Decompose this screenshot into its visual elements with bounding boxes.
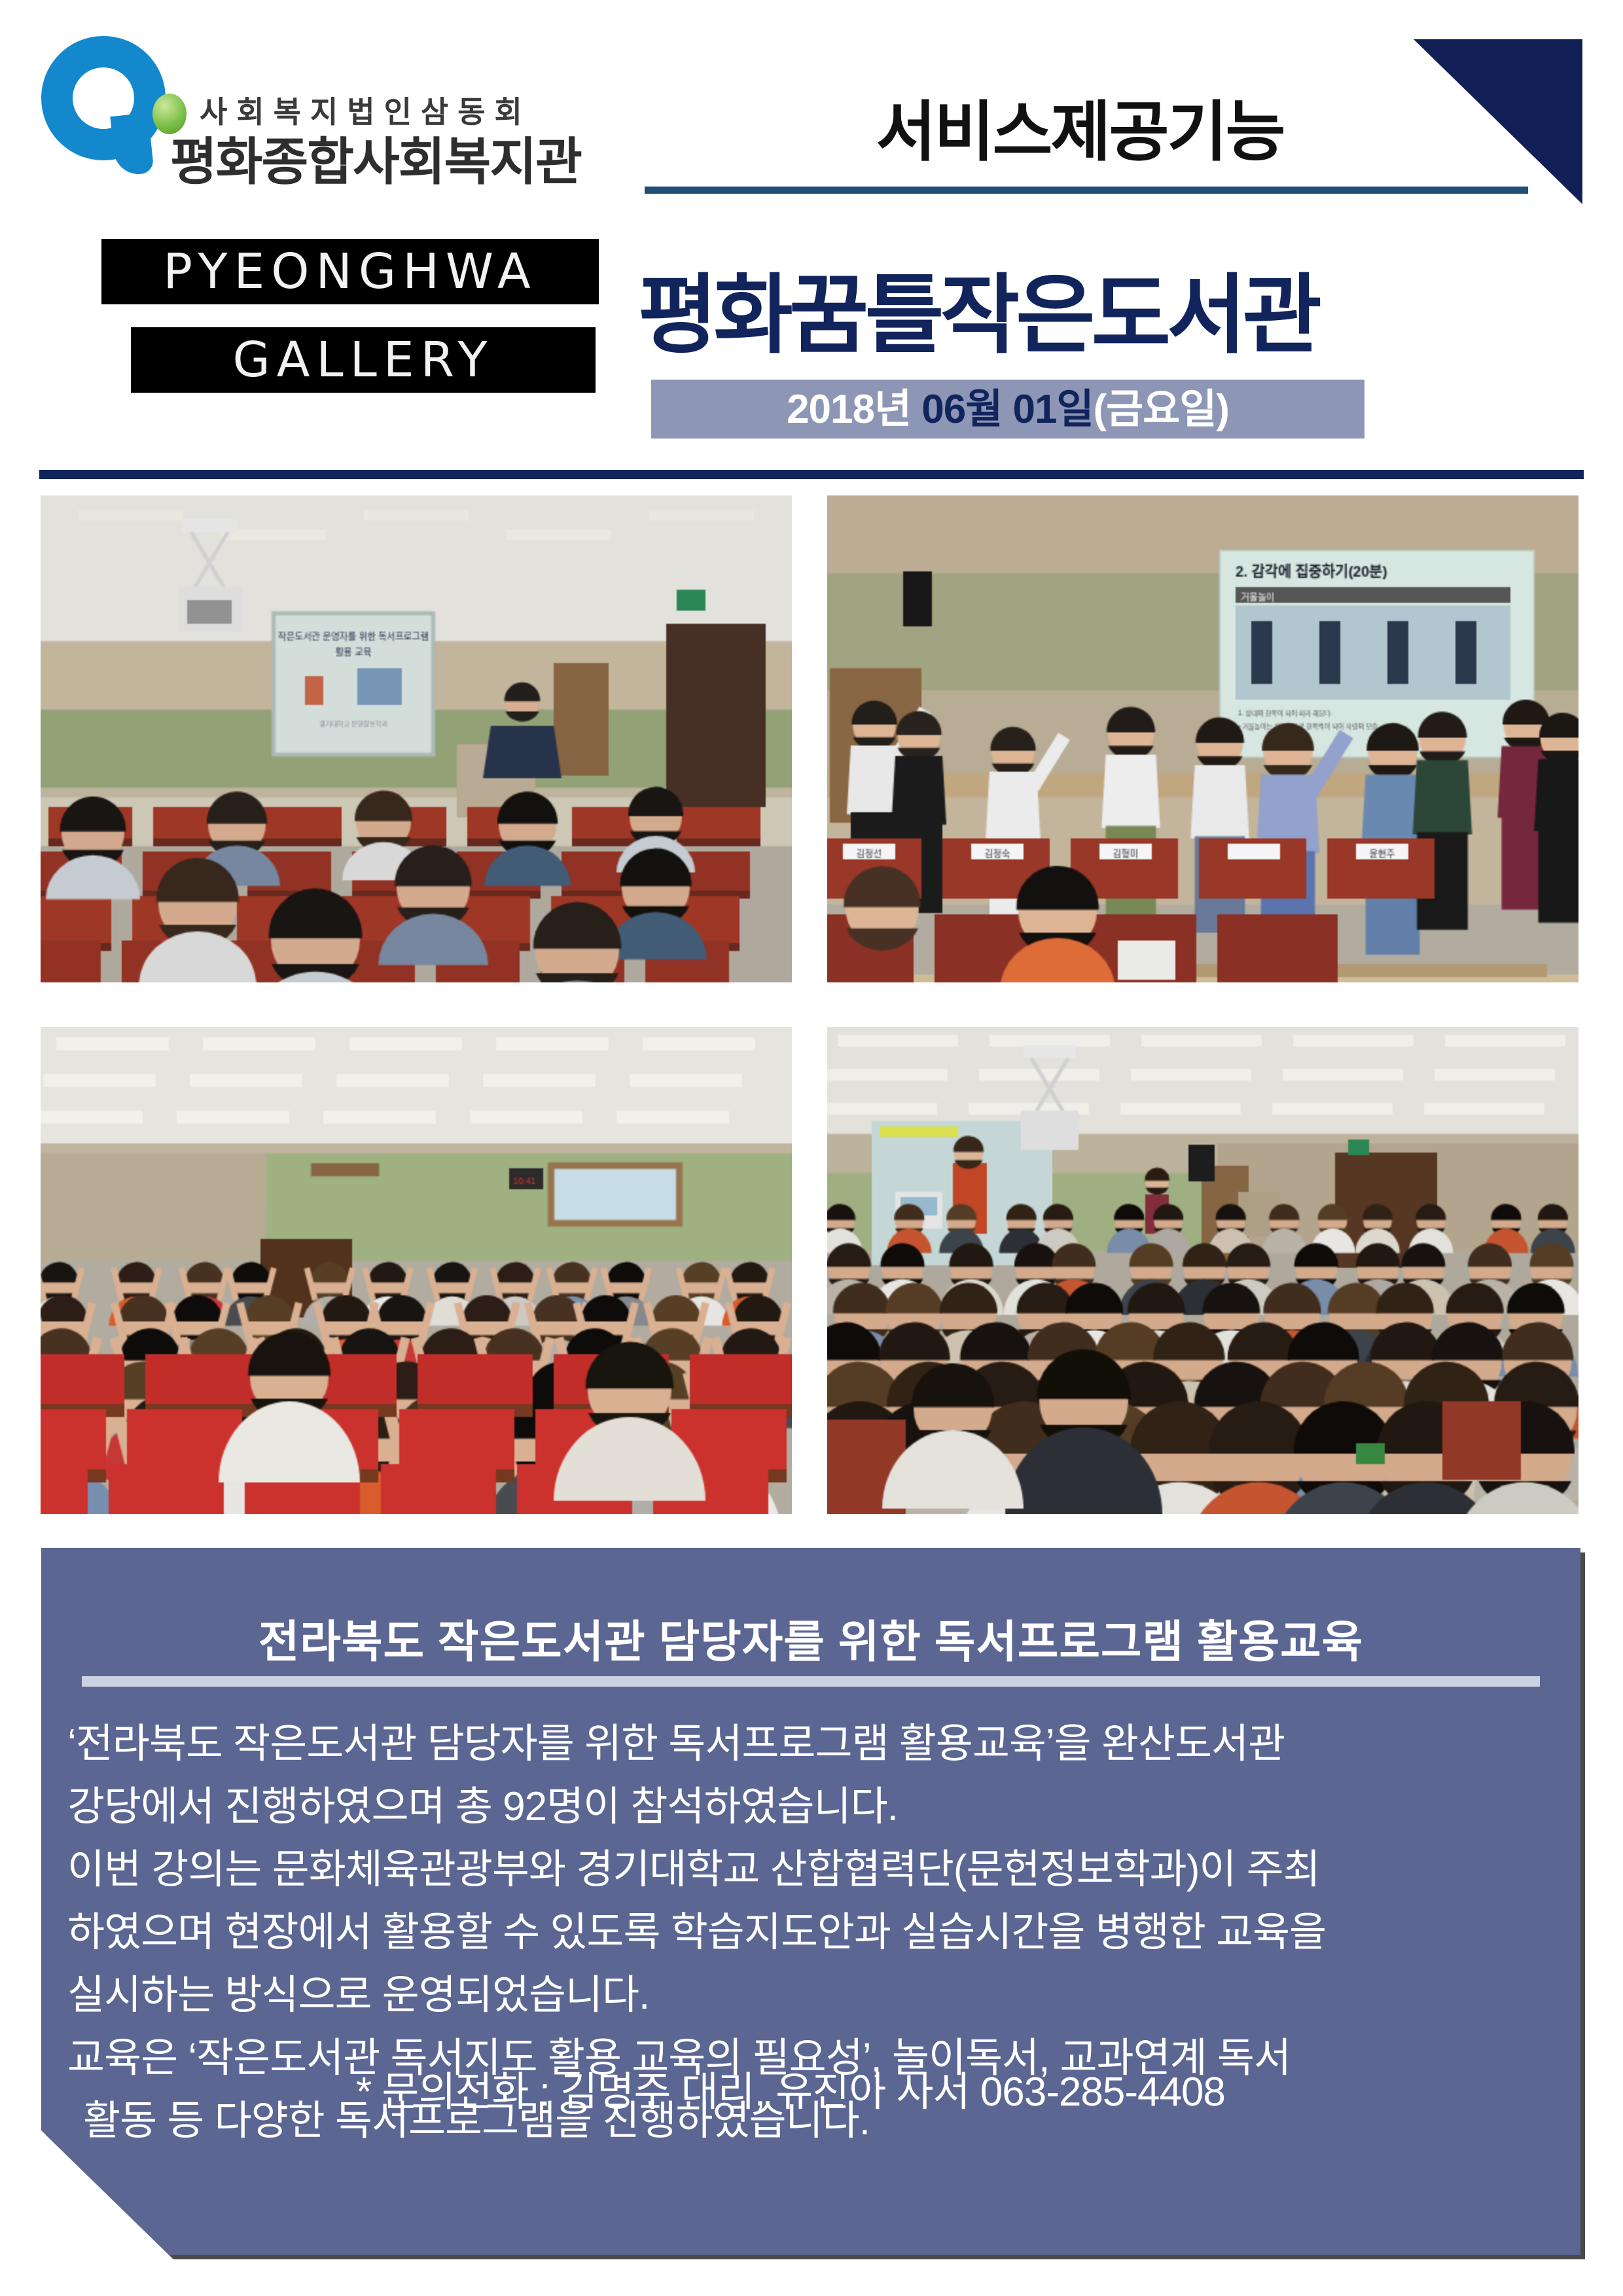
photo-group-hand-gesture-audience [41, 1027, 792, 1514]
gallery-badge-line2: GALLERY [131, 327, 596, 393]
photo-grid [41, 495, 1584, 1516]
body-line: 하였으며 현장에서 활용할 수 있도록 학습지도안과 실습시간을 병행한 교육을 [67, 1901, 1566, 1964]
organization-logo: 사회복지법인삼동회 평화종합사회복지관 [36, 29, 625, 180]
date-year: 2018년 [787, 387, 911, 432]
body-line: 실시하는 방식으로 운영되었습니다. [67, 1964, 1566, 2027]
logo-tail-shape [110, 113, 154, 177]
function-title: 서비스제공기능 [648, 79, 1512, 173]
corner-triangle-decoration [1414, 39, 1582, 204]
date-bar: 2018년 06월 01일(금요일) [651, 380, 1364, 439]
page-header: 사회복지법인삼동회 평화종합사회복지관 PYEONGHWA GALLERY 서비… [0, 0, 1623, 471]
body-line: ‘전라북도 작은도서관 담당자를 위한 독서프로그램 활용교육’을 완산도서관 [67, 1713, 1566, 1776]
body-line: 강당에서 진행하였으며 총 92명이 참석하였습니다. [67, 1776, 1566, 1839]
date-month-day: 06월 01일 [911, 387, 1093, 432]
function-title-rule [645, 187, 1528, 194]
page-title: 평화꿈틀작은도서관 [638, 245, 1554, 370]
panel-banner-rule [82, 1676, 1540, 1687]
photo-standing-audience-back-view [827, 1027, 1578, 1514]
date-weekday: (금요일) [1094, 387, 1229, 432]
contact-line: * 문의전화 : 김명주 대리, 유진아 사서 063-285-4408 [41, 2058, 1540, 2117]
panel-banner-title: 전라북도 작은도서관 담당자를 위한 독서프로그램 활용교육 [41, 1605, 1580, 1670]
org-name: 평화종합사회복지관 [170, 121, 581, 194]
photo-mirror-activity-participants [827, 495, 1578, 982]
body-line: 이번 강의는 문화체육관광부와 경기대학교 산합협력단(문헌정보학과)이 주최 [67, 1839, 1566, 1901]
header-divider [39, 470, 1584, 479]
gallery-badge-line1: PYEONGHWA [101, 239, 599, 304]
description-panel: 전라북도 작은도서관 담당자를 위한 독서프로그램 활용교육 ‘전라북도 작은도… [41, 1548, 1580, 2255]
photo-lecture-hall-presenter [41, 495, 792, 982]
logo-mark-icon [36, 36, 173, 177]
